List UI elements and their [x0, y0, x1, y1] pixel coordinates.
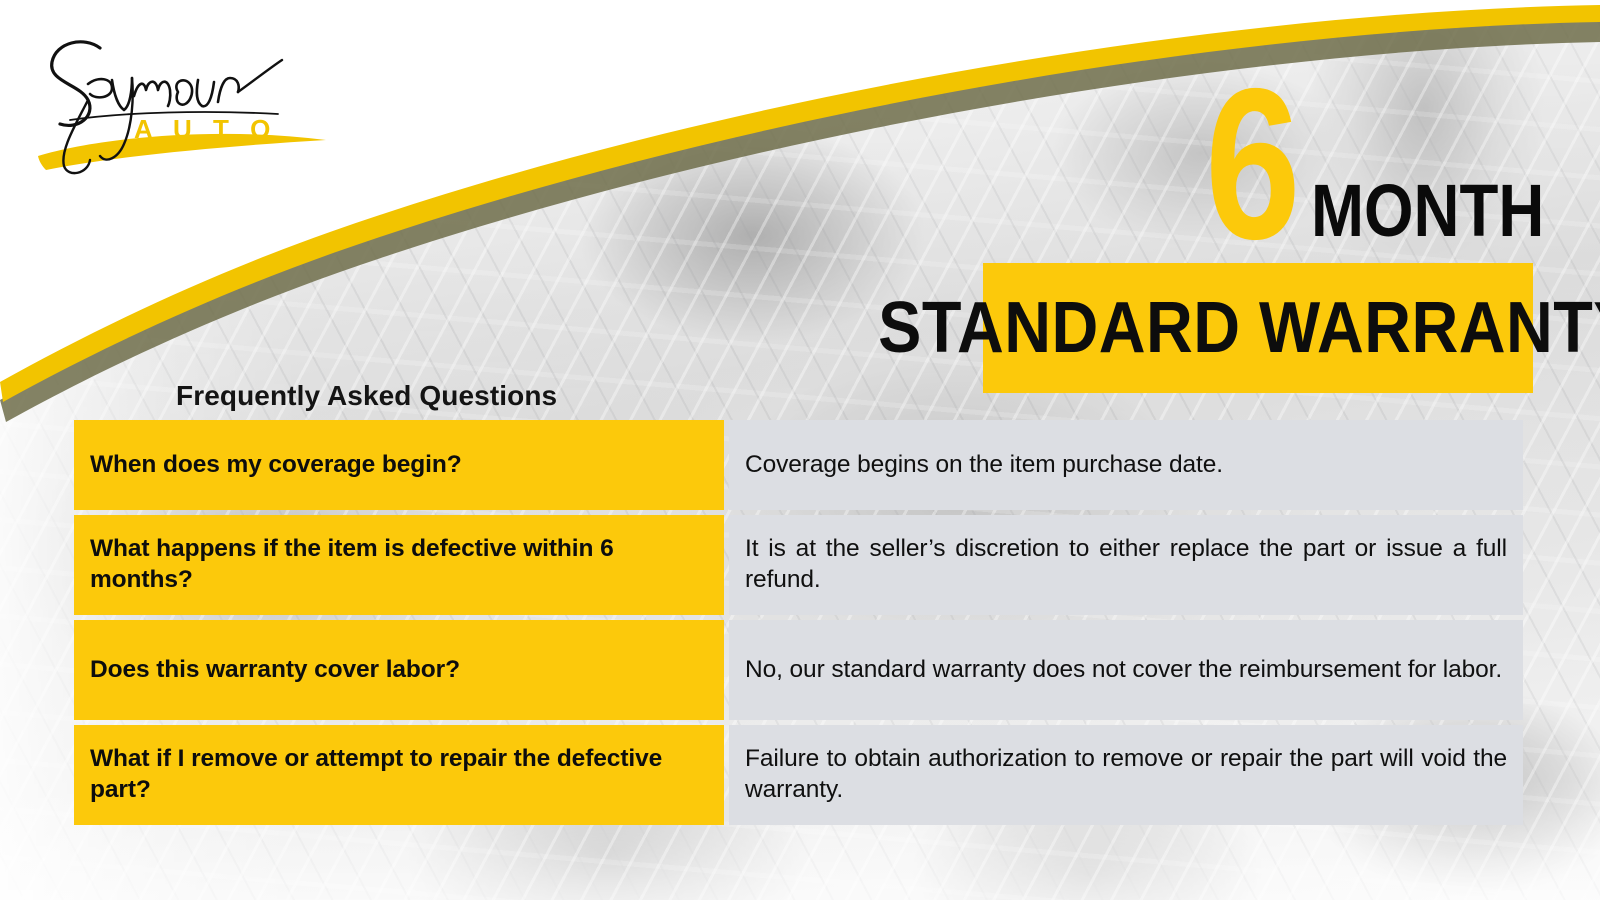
warranty-slide: A U T O 6 MONTH STANDARD WARRANTY Freque…: [0, 0, 1600, 900]
faq-question-cell: What if I remove or attempt to repair th…: [74, 725, 724, 825]
faq-heading: Frequently Asked Questions: [176, 380, 557, 412]
standard-warranty-title: STANDARD WARRANTY: [879, 292, 1600, 364]
faq-answer-cell: No, our standard warranty does not cover…: [729, 620, 1523, 720]
faq-question-cell: When does my coverage begin?: [74, 420, 724, 510]
duration-unit: MONTH: [1311, 181, 1544, 248]
seymour-auto-logo: A U T O: [26, 20, 346, 180]
table-row: What if I remove or attempt to repair th…: [74, 725, 1523, 825]
faq-answer-cell: Failure to obtain authorization to remov…: [729, 725, 1523, 825]
faq-question-cell: Does this warranty cover labor?: [74, 620, 724, 720]
table-row: What happens if the item is defective wi…: [74, 515, 1523, 615]
faq-answer-cell: It is at the seller’s discretion to eith…: [729, 515, 1523, 615]
duration-number: 6: [1205, 80, 1299, 248]
faq-answer-cell: Coverage begins on the item purchase dat…: [729, 420, 1523, 510]
standard-warranty-banner: STANDARD WARRANTY: [983, 263, 1533, 393]
faq-question-cell: What happens if the item is defective wi…: [74, 515, 724, 615]
duration-headline: 6 MONTH: [1205, 78, 1582, 248]
logo-auto-text: A U T O: [134, 114, 277, 144]
table-row: Does this warranty cover labor? No, our …: [74, 620, 1523, 720]
faq-table: When does my coverage begin? Coverage be…: [69, 415, 1528, 830]
table-row: When does my coverage begin? Coverage be…: [74, 420, 1523, 510]
